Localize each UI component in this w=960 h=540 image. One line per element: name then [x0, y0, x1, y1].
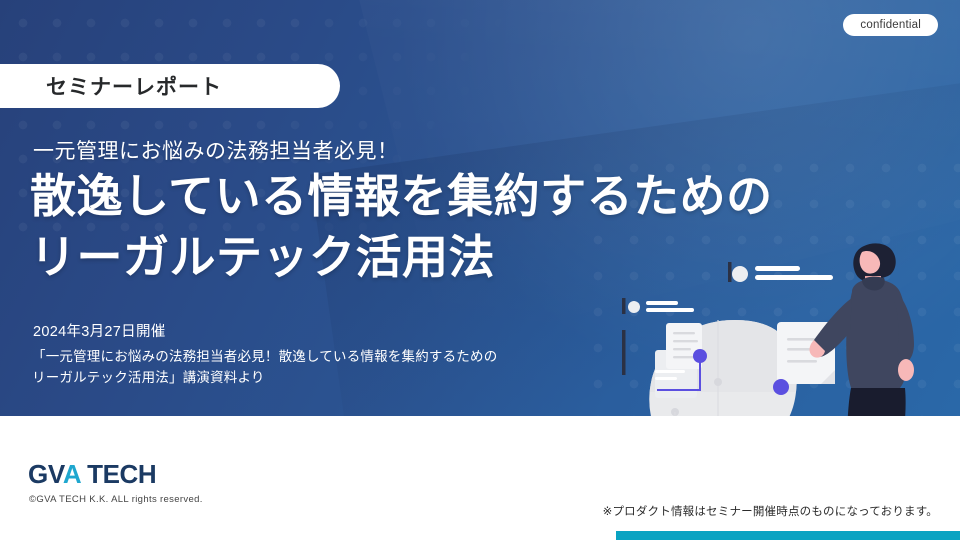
- event-source-line-1: 「一元管理にお悩みの法務担当者必見！散逸している情報を集約するための: [32, 347, 632, 368]
- logo-text-part2: TECH: [80, 459, 156, 489]
- page-title-line-1: 散逸している情報を集約するための: [30, 166, 910, 227]
- page-title: 散逸している情報を集約するための リーガルテック活用法: [30, 166, 910, 288]
- hero-panel: confidential セミナーレポート 一元管理にお悩みの法務担当者必見！ …: [0, 0, 960, 416]
- purple-node-left: [693, 349, 707, 363]
- event-source: 「一元管理にお悩みの法務担当者必見！散逸している情報を集約するための リーガルテ…: [32, 347, 632, 389]
- gva-tech-logo: GVA TECH: [28, 459, 156, 490]
- logo-accent-letter: A: [63, 459, 80, 489]
- page-title-line-2: リーガルテック活用法: [30, 227, 910, 288]
- copyright-text: ©GVA TECH K.K. ALL rights reserved.: [29, 494, 203, 505]
- purple-node-right: [773, 379, 789, 395]
- logo-text-part1: GV: [28, 459, 63, 489]
- cyan-accent-bar: [616, 531, 960, 540]
- seminar-report-pill: セミナーレポート: [0, 64, 340, 108]
- confidential-badge: confidential: [843, 14, 938, 36]
- hero-subtitle: 一元管理にお悩みの法務担当者必見！: [33, 135, 399, 165]
- product-info-footnote: ※プロダクト情報はセミナー開催時点のものになっております。: [603, 503, 938, 519]
- event-date: 2024年3月27日開催: [33, 320, 166, 341]
- slide-root: confidential セミナーレポート 一元管理にお悩みの法務担当者必見！ …: [0, 0, 960, 540]
- event-source-line-2: リーガルテック活用法」講演資料より: [32, 368, 632, 389]
